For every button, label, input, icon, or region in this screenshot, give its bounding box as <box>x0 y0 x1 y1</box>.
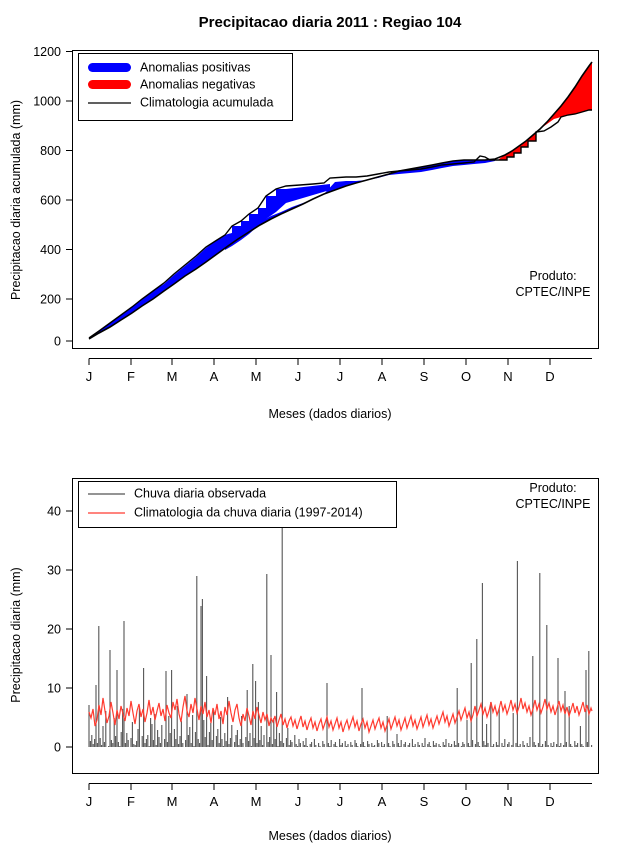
x-ticklabel-apr: A <box>210 369 219 384</box>
x-ticklabel-aug-bottom: A <box>378 794 387 809</box>
y-ticklabel-30: 30 <box>47 564 61 578</box>
x-ticklabel-nov: N <box>503 369 512 384</box>
legend-top: Anomalias positivas Anomalias negativas … <box>79 54 293 121</box>
y-axis-title-bottom: Precipitacao diaria (mm) <box>9 567 23 702</box>
y-ticklabel-20: 20 <box>47 623 61 637</box>
x-ticklabel-oct-bottom: O <box>461 794 471 809</box>
x-ticklabel-mar: M <box>167 369 178 384</box>
x-ticklabel-apr-bottom: A <box>210 794 219 809</box>
y-ticklabel-200: 200 <box>40 293 61 307</box>
page-title: Precipitacao diaria 2011 : Regiao 104 <box>199 14 462 31</box>
y-ticklabel-800: 800 <box>40 144 61 158</box>
y-ticklabel-600: 600 <box>40 194 61 208</box>
producer-line-2: CPTEC/INPE <box>515 285 590 299</box>
x-ticklabel-jun: J <box>295 369 302 384</box>
x-ticklabel-may: M <box>251 369 262 384</box>
x-ticklabel-sep-bottom: S <box>420 794 429 809</box>
x-ticklabel-sep: S <box>420 369 429 384</box>
x-ticklabel-dec-bottom: D <box>545 794 554 809</box>
x-ticklabel-jul-bottom: J <box>337 794 344 809</box>
accumulated-precipitation-chart: Precipitacao diaria 2011 : Regiao 104 12… <box>0 0 640 430</box>
y-ticklabel-10: 10 <box>47 682 61 696</box>
legend-swatch-negative <box>88 80 131 89</box>
x-ticklabel-feb-bottom: F <box>127 794 135 809</box>
x-ticklabel-feb: F <box>127 369 135 384</box>
x-axis-title-bottom: Meses (dados diarios) <box>269 829 392 843</box>
x-ticklabel-jan-bottom: J <box>86 794 93 809</box>
producer-line-2-bottom: CPTEC/INPE <box>515 497 590 511</box>
y-ticklabel-0: 0 <box>54 335 61 349</box>
x-ticklabel-dec: D <box>545 369 554 384</box>
y-ticklabel-400: 400 <box>40 243 61 257</box>
legend-swatch-positive <box>88 63 131 72</box>
x-ticklabel-nov-bottom: N <box>503 794 512 809</box>
daily-precipitation-chart: 40 30 20 10 0 Precipitacao diaria (mm) <box>0 430 640 850</box>
x-ticklabel-jul: J <box>337 369 344 384</box>
y-ticklabel-0: 0 <box>54 741 61 755</box>
x-ticklabel-aug: A <box>378 369 387 384</box>
x-ticklabel-may-bottom: M <box>251 794 262 809</box>
x-ticklabel-mar-bottom: M <box>167 794 178 809</box>
y-ticklabel-40: 40 <box>47 505 61 519</box>
legend-label-climatology-daily: Climatologia da chuva diaria (1997-2014) <box>134 505 363 519</box>
x-ticklabel-jan: J <box>86 369 93 384</box>
x-ticklabel-jun-bottom: J <box>295 794 302 809</box>
figure-root: Precipitacao diaria 2011 : Regiao 104 12… <box>0 0 640 850</box>
legend-label-positive: Anomalias positivas <box>140 60 250 74</box>
legend-bottom: Chuva diaria observada Climatologia da c… <box>79 482 397 528</box>
y-ticklabel-1200: 1200 <box>33 45 61 59</box>
y-axis-title: Precipitacao diaria acumulada (mm) <box>9 100 23 300</box>
x-ticklabel-oct: O <box>461 369 471 384</box>
legend-label-climatology: Climatologia acumulada <box>140 95 273 109</box>
y-ticklabel-1000: 1000 <box>33 95 61 109</box>
legend-label-negative: Anomalias negativas <box>140 77 255 91</box>
producer-line-1-bottom: Produto: <box>529 481 576 495</box>
producer-line-1: Produto: <box>529 269 576 283</box>
legend-label-observed: Chuva diaria observada <box>134 486 266 500</box>
x-axis-title: Meses (dados diarios) <box>269 407 392 421</box>
